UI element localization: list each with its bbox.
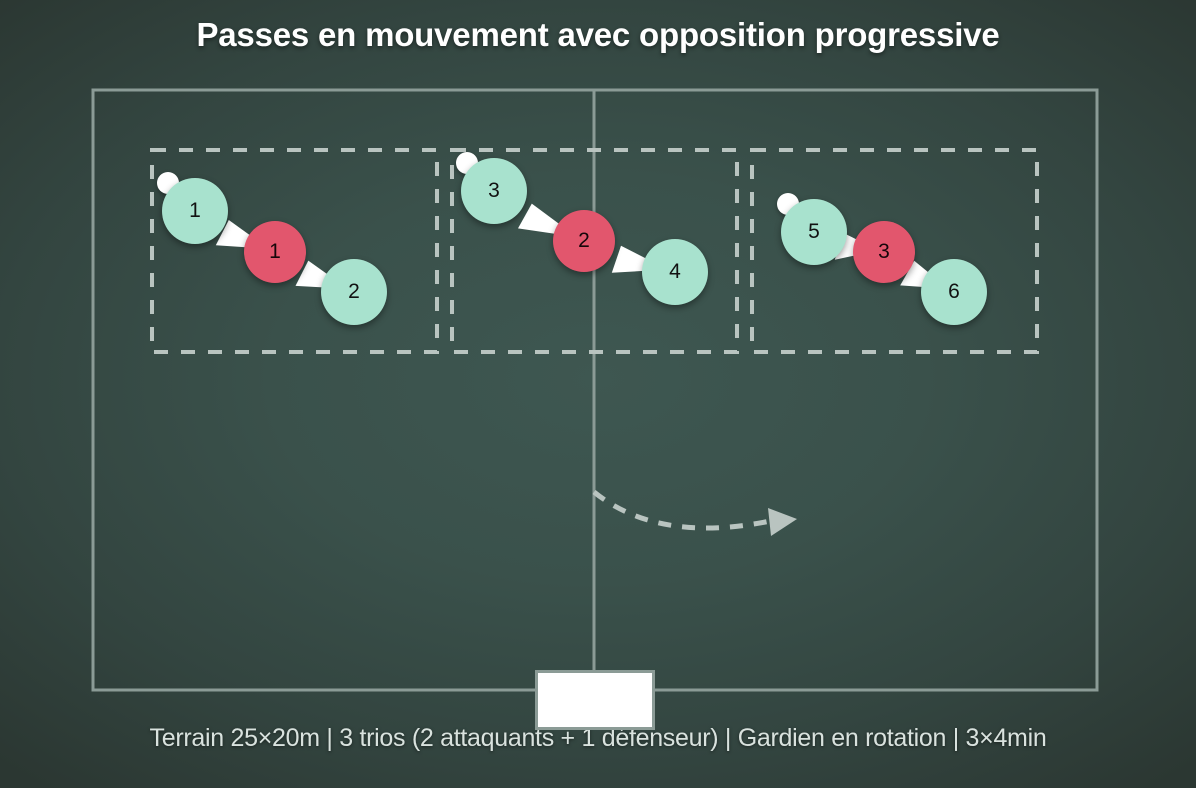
tactics-board: Passes en mouvement avec opposition prog…	[0, 0, 1196, 788]
trio-1-attacker-start[interactable]: 1	[162, 178, 228, 244]
trio-2-defender[interactable]: 2	[553, 210, 615, 272]
rotation-arrow-path	[594, 492, 775, 528]
trio-1-defender[interactable]: 1	[244, 221, 306, 283]
trio-2-attacker-end[interactable]: 4	[642, 239, 708, 305]
rotation-arrow-head	[768, 508, 797, 536]
trio-3-attacker-start[interactable]: 5	[781, 199, 847, 265]
trio-2-attacker-start[interactable]: 3	[461, 158, 527, 224]
trio-3-defender[interactable]: 3	[853, 221, 915, 283]
pitch-outline	[93, 90, 1097, 690]
trio-3-attacker-end[interactable]: 6	[921, 259, 987, 325]
trio-1-attacker-end[interactable]: 2	[321, 259, 387, 325]
goal	[535, 670, 655, 730]
rotation-arrow	[594, 492, 797, 536]
